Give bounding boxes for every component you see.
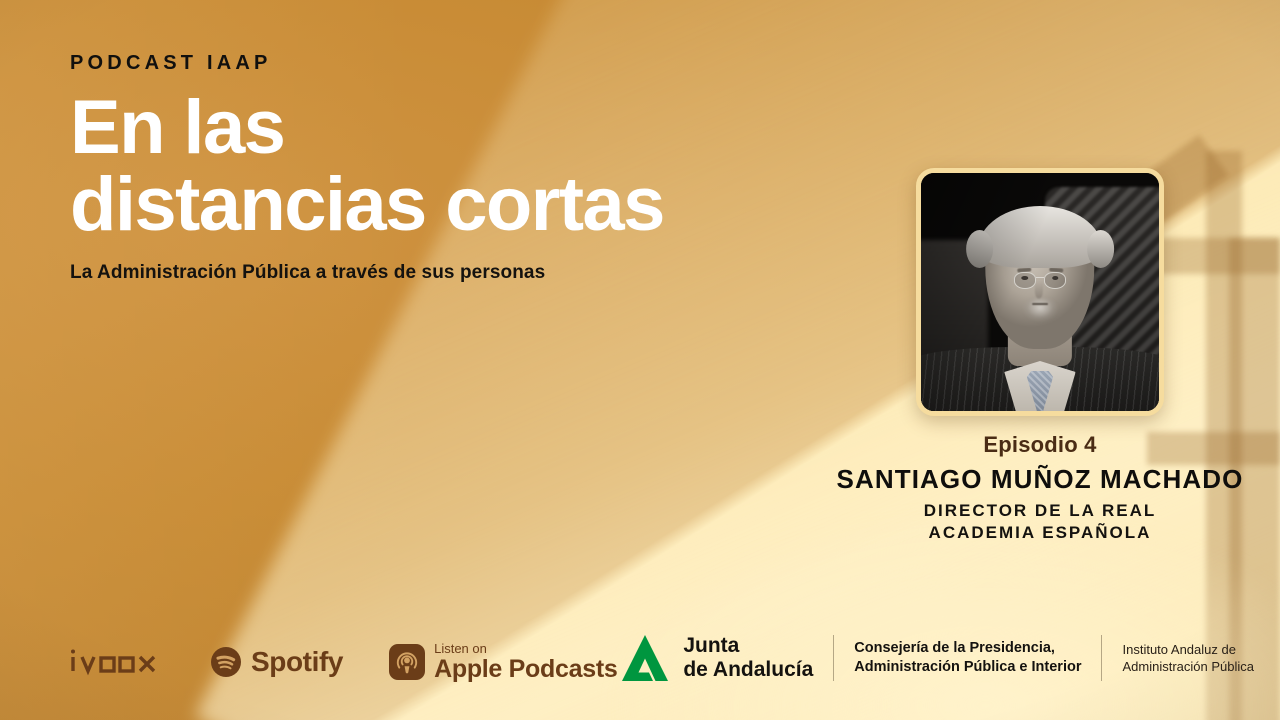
platform-ivoox[interactable] [68,647,164,677]
platform-logos: Spotify Listen on Apple Podcasts [68,642,617,682]
ivoox-icon [68,647,164,677]
poster-stage: PODCAST IAAP En las distancias cortas La… [0,0,1280,720]
consejeria-line-2: Administración Pública e Interior [854,658,1081,677]
instituto-line-2: Administración Pública [1122,658,1254,675]
episode-number: Episodio 4 [830,432,1250,458]
junta-line-1: Junta [683,634,813,658]
junta-de-andalucia-logo: Junta de Andalucía [619,632,813,684]
guest-photo-frame [916,168,1164,416]
guest-card: Episodio 4 SANTIAGO MUÑOZ MACHADO DIRECT… [830,168,1250,545]
apple-podcasts-label: Apple Podcasts [434,656,617,683]
ivoox-dot [71,649,75,653]
branding-block: PODCAST IAAP En las distancias cortas La… [70,52,710,284]
instituto-text: Instituto Andaluz de Administración Públ… [1122,641,1254,675]
guest-role-line-2: ACADEMIA ESPAÑOLA [830,522,1250,544]
junta-wordmark: Junta de Andalucía [683,634,813,681]
title-line-1: En las [70,85,284,170]
junta-line-2: de Andalucía [683,658,813,682]
spotify-icon [210,646,242,678]
podcast-subtitle: La Administración Pública a través de su… [70,262,710,284]
platform-apple-podcasts[interactable]: Listen on Apple Podcasts [389,642,617,682]
divider-1 [833,635,834,681]
consejeria-text: Consejería de la Presidencia, Administra… [854,639,1081,677]
consejeria-line-1: Consejería de la Presidencia, [854,639,1081,658]
divider-2 [1101,635,1102,681]
portrait-shading [921,173,1159,411]
instituto-line-1: Instituto Andaluz de [1122,641,1254,658]
platform-spotify[interactable]: Spotify [210,646,343,678]
guest-role-line-1: DIRECTOR DE LA REAL [830,500,1250,522]
podcast-kicker: PODCAST IAAP [70,52,710,75]
apple-podcasts-listen-on: Listen on [434,642,617,656]
government-lockup: Junta de Andalucía Consejería de la Pres… [619,632,1254,684]
guest-role: DIRECTOR DE LA REAL ACADEMIA ESPAÑOLA [830,500,1250,545]
title-line-2: distancias cortas [70,170,710,241]
apple-podcasts-text: Listen on Apple Podcasts [434,642,617,682]
guest-name: SANTIAGO MUÑOZ MACHADO [830,464,1250,495]
spotify-label: Spotify [251,646,343,678]
guest-portrait [921,173,1159,411]
apple-podcasts-icon [389,644,425,680]
page-title: En las distancias cortas [70,93,710,240]
junta-arch-icon [619,632,671,684]
